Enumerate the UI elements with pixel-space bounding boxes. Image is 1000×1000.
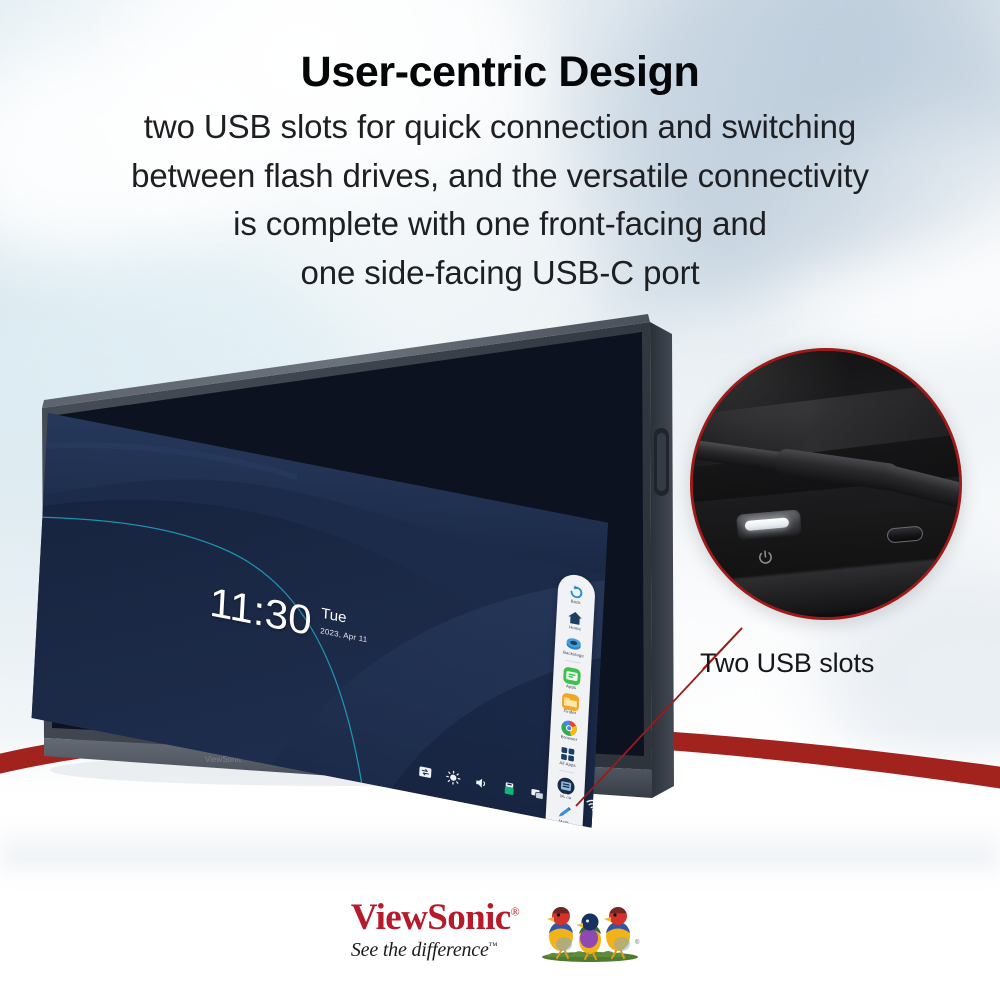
usb-c-port[interactable] bbox=[886, 525, 923, 543]
brand-tagline-text: See the difference bbox=[351, 939, 489, 961]
viewsonic-logo: ViewSonic® See the difference™ bbox=[0, 899, 1000, 962]
logo-wordmark-block: ViewSonic® See the difference™ bbox=[351, 899, 519, 962]
lockscreen-clock: 11:30 Tue 2023, Apr 11 bbox=[209, 581, 369, 653]
page-subtitle: two USB slots for quick connection and s… bbox=[0, 103, 1000, 297]
usb-drive-icon[interactable] bbox=[501, 780, 517, 797]
clock-daybox: Tue 2023, Apr 11 bbox=[320, 603, 369, 644]
sidebar-label: Home bbox=[568, 626, 580, 632]
brand-name: ViewSonic® bbox=[351, 899, 519, 936]
sidebar-item-all-apps[interactable]: All Apps bbox=[550, 741, 585, 772]
subtitle-line: between flash drives, and the versatile … bbox=[0, 152, 1000, 201]
input-source-icon[interactable] bbox=[417, 763, 433, 780]
poster-canvas: User-centric Design two USB slots for qu… bbox=[0, 0, 1000, 1000]
svg-text:®: ® bbox=[635, 939, 640, 946]
callout-label: Two USB slots bbox=[700, 648, 1000, 679]
brightness-icon[interactable] bbox=[445, 769, 461, 786]
marketing-copy: User-centric Design two USB slots for qu… bbox=[0, 48, 1000, 297]
subtitle-line: one side-facing USB-C port bbox=[0, 249, 1000, 298]
sidebar-item-backstage[interactable]: Backstage bbox=[556, 630, 591, 661]
gouldian-finch-logo-icon: ® bbox=[531, 900, 649, 962]
volume-icon[interactable] bbox=[473, 774, 489, 791]
brand-name-text: ViewSonic bbox=[351, 897, 511, 938]
registered-mark: ® bbox=[511, 905, 520, 919]
magnifier-photo bbox=[693, 351, 959, 617]
network-icon[interactable] bbox=[557, 791, 573, 808]
sidebar-label: All Apps bbox=[559, 761, 576, 768]
power-button-led[interactable] bbox=[736, 509, 802, 540]
sidebar-label: Apps bbox=[566, 684, 576, 690]
power-symbol-icon bbox=[756, 548, 774, 566]
sidebar-divider bbox=[559, 770, 574, 774]
subtitle-line: is complete with one front-facing and bbox=[0, 200, 1000, 249]
led-indicator bbox=[745, 517, 790, 531]
brand-tagline: See the difference™ bbox=[351, 939, 497, 962]
finch-right bbox=[604, 907, 630, 958]
sidebar-label: Finder bbox=[563, 710, 576, 717]
sidebar-label: Back bbox=[571, 600, 581, 606]
screen-cast-icon[interactable] bbox=[529, 785, 545, 802]
finch-left bbox=[547, 907, 573, 958]
trademark-mark: ™ bbox=[489, 940, 498, 950]
sidebar-divider bbox=[565, 660, 580, 664]
subtitle-line: two USB slots for quick connection and s… bbox=[0, 103, 1000, 152]
clock-time: 11:30 bbox=[209, 581, 313, 642]
page-title: User-centric Design bbox=[0, 48, 1000, 96]
viewboard-display: ViewSonic bbox=[0, 300, 700, 860]
usb-ports-magnifier bbox=[690, 348, 962, 620]
